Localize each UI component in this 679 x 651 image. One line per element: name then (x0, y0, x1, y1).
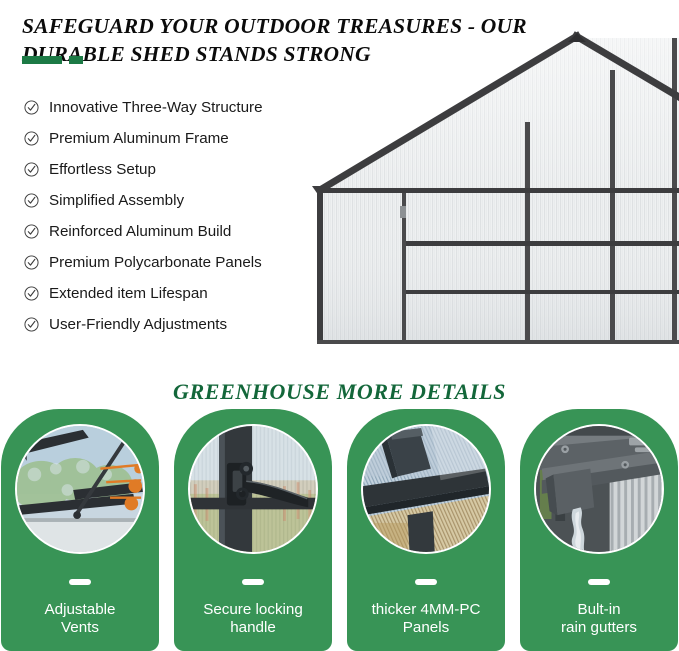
check-circle-icon (24, 224, 39, 239)
feature-label: Premium Aluminum Frame (49, 130, 229, 147)
list-item: Innovative Three-Way Structure (24, 92, 263, 123)
hero-section: SAFEGUARD YOUR OUTDOOR TREASURES - OUR D… (0, 0, 679, 350)
feature-label: Effortless Setup (49, 161, 156, 178)
list-item: Extended item Lifespan (24, 278, 263, 309)
check-circle-icon (24, 131, 39, 146)
accent-bar-long (22, 56, 62, 64)
feature-label: Innovative Three-Way Structure (49, 99, 263, 116)
card-divider (242, 579, 264, 585)
feature-label: Reinforced Aluminum Build (49, 223, 231, 240)
page-title: SAFEGUARD YOUR OUTDOOR TREASURES - OUR D… (22, 12, 567, 68)
feature-list: Innovative Three-Way Structure Premium A… (24, 92, 263, 340)
feature-label: Premium Polycarbonate Panels (49, 254, 262, 271)
polycarbonate-panel-photo (361, 424, 491, 554)
list-item: Premium Aluminum Frame (24, 123, 263, 154)
feature-card-rain-gutters[interactable]: Bult-in rain gutters (520, 409, 678, 651)
accent-bars (22, 56, 83, 64)
card-label: Bult-in rain gutters (520, 601, 678, 637)
feature-label: User-Friendly Adjustments (49, 316, 227, 333)
list-item: Reinforced Aluminum Build (24, 216, 263, 247)
list-item: Premium Polycarbonate Panels (24, 247, 263, 278)
check-circle-icon (24, 286, 39, 301)
accent-bar-short (69, 56, 83, 64)
roof-vent-window-photo (15, 424, 145, 554)
check-circle-icon (24, 193, 39, 208)
card-label: Secure locking handle (174, 601, 332, 637)
card-label: Adjustable Vents (1, 601, 159, 637)
feature-card-secure-locking-handle[interactable]: Secure locking handle (174, 409, 332, 651)
check-circle-icon (24, 100, 39, 115)
feature-card-thicker-pc-panels[interactable]: thicker 4MM-PC Panels (347, 409, 505, 651)
list-item: Effortless Setup (24, 154, 263, 185)
check-circle-icon (24, 317, 39, 332)
list-item: User-Friendly Adjustments (24, 309, 263, 340)
list-item: Simplified Assembly (24, 185, 263, 216)
card-divider (588, 579, 610, 585)
feature-label: Simplified Assembly (49, 192, 184, 209)
check-circle-icon (24, 255, 39, 270)
rain-gutter-corner-photo (534, 424, 664, 554)
feature-card-adjustable-vents[interactable]: Adjustable Vents (1, 409, 159, 651)
check-circle-icon (24, 162, 39, 177)
card-label: thicker 4MM-PC Panels (347, 601, 505, 637)
card-divider (69, 579, 91, 585)
door-lock-handle-photo (188, 424, 318, 554)
section-heading: GREENHOUSE MORE DETAILS (0, 379, 679, 405)
feature-label: Extended item Lifespan (49, 285, 208, 302)
card-divider (415, 579, 437, 585)
feature-cards: Adjustable Vents (0, 409, 679, 651)
